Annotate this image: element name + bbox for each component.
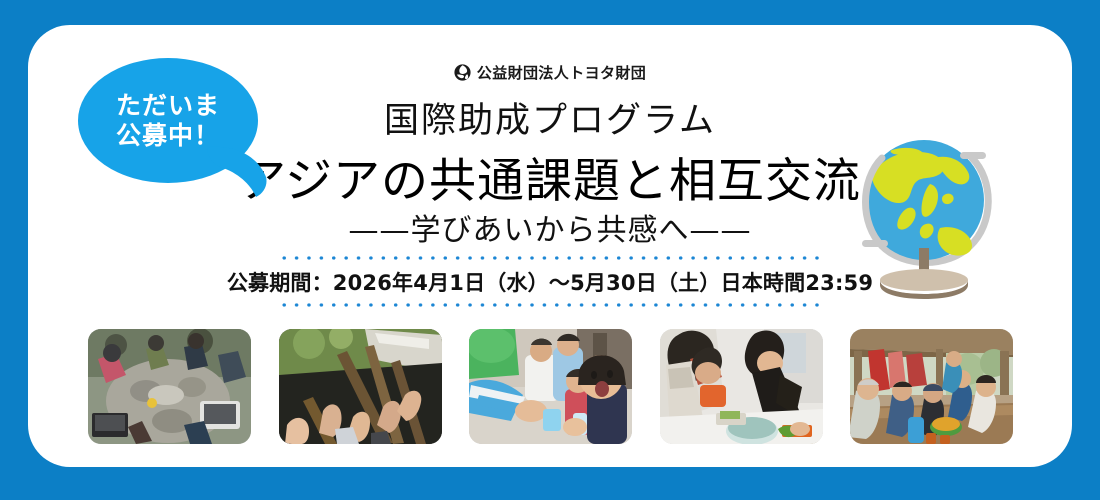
desk-globe-illustration	[852, 128, 1002, 300]
badge-label: ただいま 公募中！	[78, 58, 258, 183]
badge-label-line1: ただいま	[116, 91, 220, 121]
photo-strip	[88, 329, 1013, 444]
badge-label-line2: 公募中！	[116, 121, 220, 151]
photo-children-receiving-items	[469, 329, 632, 444]
photo-veranda-gathering	[850, 329, 1013, 444]
dotted-divider-bottom	[278, 303, 823, 307]
photo-hands-raising-poles	[279, 329, 442, 444]
photo-outdoor-workshop-laptops	[88, 329, 251, 444]
foundation-logo-text: 公益財団法人トヨタ財団	[477, 62, 646, 83]
photo-women-cooking	[660, 329, 823, 444]
now-accepting-badge: ただいま 公募中！	[78, 58, 293, 213]
toyota-foundation-globe-mark	[454, 64, 471, 81]
application-period-text: 公募期間：2026年4月1日（水）〜5月30日（土）日本時間23:59	[227, 260, 873, 303]
banner-root: 公益財団法人トヨタ財団 国際助成プログラム アジアの共通課題と相互交流 ——学び…	[0, 0, 1100, 500]
